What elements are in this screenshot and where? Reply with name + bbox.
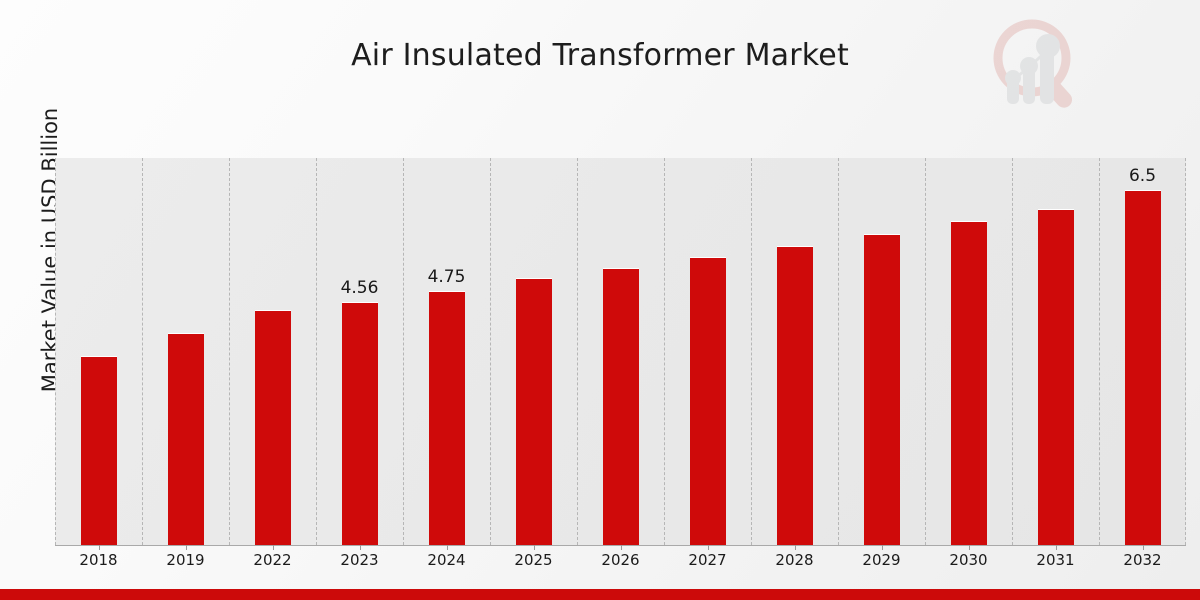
bar-2026[interactable] xyxy=(603,268,639,545)
bar-2032[interactable] xyxy=(1125,190,1161,545)
x-tick-label-2019: 2019 xyxy=(146,551,226,569)
bottom-accent-band xyxy=(0,589,1200,600)
bar-value-label-2023: 4.56 xyxy=(320,278,400,298)
bar-2022[interactable] xyxy=(255,310,291,545)
plot-area: 4.564.756.5 xyxy=(55,158,1186,545)
x-tick-label-2031: 2031 xyxy=(1016,551,1096,569)
bar-2018[interactable] xyxy=(81,356,117,545)
bar-2023[interactable] xyxy=(342,302,378,545)
bar-2031[interactable] xyxy=(1038,209,1074,545)
x-tick xyxy=(534,545,535,550)
x-tick-label-2029: 2029 xyxy=(842,551,922,569)
x-tick-label-2024: 2024 xyxy=(407,551,487,569)
bar-2028[interactable] xyxy=(777,246,813,545)
x-tick-label-2028: 2028 xyxy=(755,551,835,569)
bar-2029[interactable] xyxy=(864,234,900,545)
bar-2019[interactable] xyxy=(168,333,204,545)
x-tick-label-2022: 2022 xyxy=(233,551,313,569)
x-tick xyxy=(1143,545,1144,550)
bar-value-label-2032: 6.5 xyxy=(1103,166,1183,186)
x-tick xyxy=(708,545,709,550)
x-tick xyxy=(969,545,970,550)
x-tick-label-2025: 2025 xyxy=(494,551,574,569)
x-tick xyxy=(1056,545,1057,550)
x-tick-label-2023: 2023 xyxy=(320,551,400,569)
bar-2024[interactable] xyxy=(429,291,465,545)
x-tick xyxy=(360,545,361,550)
x-tick-label-2032: 2032 xyxy=(1103,551,1183,569)
x-tick xyxy=(447,545,448,550)
x-tick xyxy=(621,545,622,550)
x-tick xyxy=(273,545,274,550)
x-tick-label-2030: 2030 xyxy=(929,551,1009,569)
bar-2027[interactable] xyxy=(690,257,726,545)
bar-2025[interactable] xyxy=(516,278,552,545)
bars-layer: 4.564.756.5 xyxy=(55,158,1186,545)
bar-value-label-2024: 4.75 xyxy=(407,267,487,287)
bar-2030[interactable] xyxy=(951,221,987,545)
x-tick xyxy=(186,545,187,550)
chart-title: Air Insulated Transformer Market xyxy=(0,38,1200,73)
x-tick xyxy=(99,545,100,550)
x-tick-label-2026: 2026 xyxy=(581,551,661,569)
x-tick xyxy=(795,545,796,550)
x-tick-label-2018: 2018 xyxy=(59,551,139,569)
chart-figure: Air Insulated Transformer Market Market … xyxy=(0,0,1200,600)
x-tick xyxy=(882,545,883,550)
x-tick-label-2027: 2027 xyxy=(668,551,748,569)
